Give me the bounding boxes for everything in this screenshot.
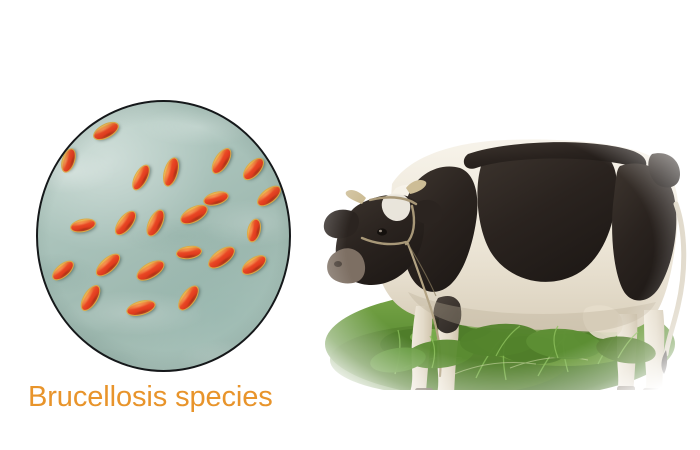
brucella-micrograph-circle <box>36 100 291 372</box>
figure-canvas: Brucellosis species <box>0 0 700 450</box>
micrograph-vignette <box>38 102 289 370</box>
page-title: Brucellosis species <box>28 381 273 413</box>
cow-eye <box>377 228 387 235</box>
cow-photo <box>300 92 700 390</box>
cow-nostril <box>334 261 342 267</box>
cow-eye-highlight <box>379 230 382 232</box>
